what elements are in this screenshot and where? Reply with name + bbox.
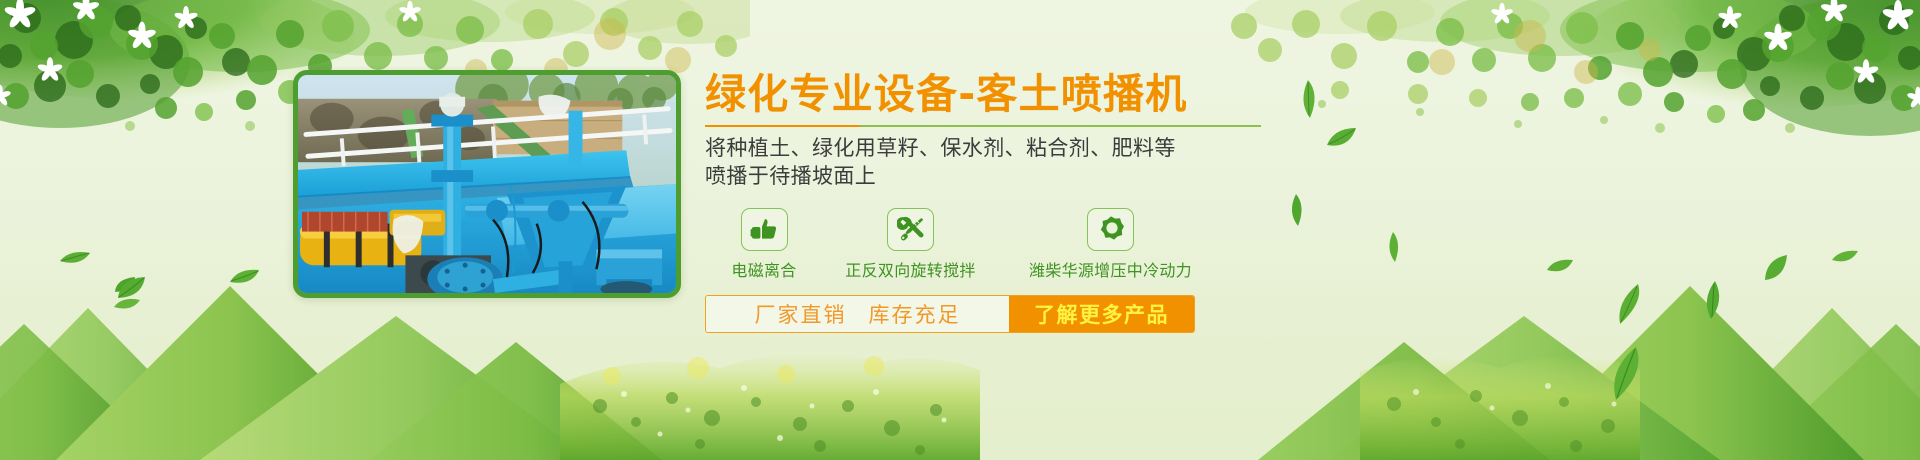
subtitle-line-1: 将种植土、绿化用草籽、保水剂、粘合剂、肥料等 [705,135,1285,163]
learn-more-button[interactable]: 了解更多产品 [1009,296,1194,332]
tools-icon [887,208,934,251]
grass-texture-right [1360,310,1920,460]
cta-slogan: 厂家直销 库存充足 [706,296,1009,332]
feature-label: 正反双向旋转搅拌 [823,257,998,281]
gear-icon [1087,208,1134,251]
feature-item-turbo-intercooled-power: 潍柴华源增压中冷动力 [998,208,1223,281]
feature-label: 潍柴华源增压中冷动力 [998,257,1223,281]
promo-banner: 绿化专业设备-客土喷播机 将种植土、绿化用草籽、保水剂、粘合剂、肥料等 喷播于待… [0,0,1920,460]
feature-item-bidirectional-mixing: 正反双向旋转搅拌 [823,208,998,281]
banner-content: 绿化专业设备-客土喷播机 将种植土、绿化用草籽、保水剂、粘合剂、肥料等 喷播于待… [705,72,1285,333]
page-title: 绿化专业设备-客土喷播机 [705,72,1285,116]
cta-bar: 厂家直销 库存充足 了解更多产品 [705,295,1195,333]
feature-label: 电磁离合 [705,257,823,281]
thumbs-up-icon [741,208,788,251]
product-photo [293,70,681,298]
feature-list: 电磁离合 [705,208,1285,281]
subtitle-line-2: 喷播于待播坡面上 [705,163,1285,191]
cta-slogan-part-2: 库存充足 [869,299,961,329]
cta-slogan-part-1: 厂家直销 [755,299,847,329]
title-divider [705,125,1261,127]
feature-item-electromagnetic-clutch: 电磁离合 [705,208,823,281]
